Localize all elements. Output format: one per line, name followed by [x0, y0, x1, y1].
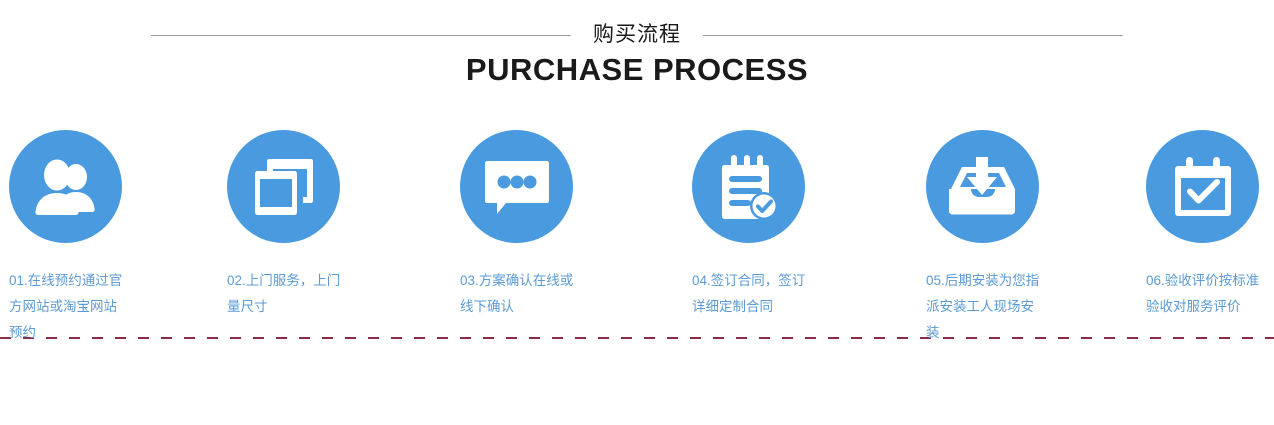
- step-6-icon-circle[interactable]: [1146, 130, 1259, 243]
- copy-windows-icon: [253, 157, 315, 217]
- section-title-en: PURCHASE PROCESS: [0, 52, 1274, 88]
- process-flow: 01.在线预约通过官方网站或淘宝网站预约 02.上门服务，上门量尺寸: [0, 130, 1274, 400]
- step-2-caption: 02.上门服务，上门量尺寸: [227, 268, 347, 320]
- step-4-caption: 04.签订合同，签订详细定制合同: [692, 268, 812, 320]
- step-3-icon-circle[interactable]: [460, 130, 573, 243]
- process-step-6[interactable]: 06.验收评价按标准验收对服务评价: [1108, 130, 1274, 320]
- process-step-5[interactable]: 05.后期安装为您指派安装工人现场安装: [888, 130, 1078, 346]
- process-step-3[interactable]: 03.方案确认在线或线下确认: [422, 130, 612, 320]
- purchase-process-section: 购买流程 PURCHASE PROCESS 01.在线预约通过官方网站或淘宝网站…: [0, 0, 1274, 425]
- step-1-caption: 01.在线预约通过官方网站或淘宝网站预约: [9, 268, 129, 346]
- step-6-caption: 06.验收评价按标准验收对服务评价: [1146, 268, 1266, 320]
- users-icon: [34, 159, 98, 215]
- step-5-caption: 05.后期安装为您指派安装工人现场安装: [926, 268, 1046, 346]
- process-step-1[interactable]: 01.在线预约通过官方网站或淘宝网站预约: [0, 130, 161, 346]
- chinese-title-row: 购买流程: [0, 20, 1274, 50]
- divider-right: [703, 35, 1123, 36]
- step-4-icon-circle[interactable]: [692, 130, 805, 243]
- divider-left: [151, 35, 571, 36]
- step-3-caption: 03.方案确认在线或线下确认: [460, 268, 580, 320]
- section-title-cn: 购买流程: [593, 20, 681, 50]
- step-1-icon-circle[interactable]: [9, 130, 122, 243]
- step-5-icon-circle[interactable]: [926, 130, 1039, 243]
- notepad-check-icon: [718, 154, 780, 220]
- process-step-2[interactable]: 02.上门服务，上门量尺寸: [189, 130, 379, 320]
- flow-connector-dashed-line: [0, 337, 1274, 339]
- step-2-icon-circle[interactable]: [227, 130, 340, 243]
- calendar-check-icon: [1172, 156, 1234, 218]
- chat-bubble-dots-icon: [484, 159, 550, 215]
- inbox-download-icon: [949, 157, 1017, 217]
- process-step-4[interactable]: 04.签订合同，签订详细定制合同: [654, 130, 844, 320]
